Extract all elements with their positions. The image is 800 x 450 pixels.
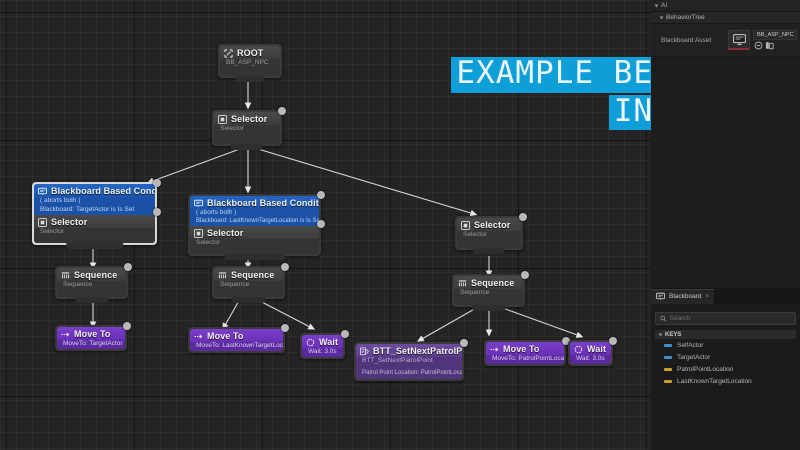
node-footer (75, 297, 109, 303)
blackboard-asset-controls: BB_ASP_NPC (753, 30, 797, 50)
node-title: Move To (207, 331, 244, 341)
node-subtitle: Sequence (214, 281, 283, 290)
blackboard-panel: Blackboard × KEYS SelfActor (651, 288, 800, 450)
decorator-aborts: ( aborts both ) (34, 197, 155, 206)
decorator-title: Blackboard Based Condition (51, 186, 155, 196)
blackboard-asset-icon (733, 34, 746, 45)
keys-header-label: KEYS (665, 332, 681, 338)
key-name: TargetActor (677, 354, 710, 361)
node-root-header: ROOT (220, 46, 280, 59)
node-decorator-target-actor[interactable]: Blackboard Based Condition ( aborts both… (32, 182, 157, 245)
node-footer (231, 144, 263, 150)
blackboard-icon (38, 187, 47, 196)
node-moveto-patrolpoint[interactable]: Move To MoveTo: PatrolPointLocation (484, 340, 566, 366)
node-title: Sequence (74, 270, 117, 280)
output-pin[interactable] (281, 263, 289, 271)
selector-icon (218, 115, 227, 124)
node-selector-mid[interactable]: Selector Selector (190, 226, 319, 254)
search-icon (660, 315, 667, 322)
use-selected-icon[interactable] (754, 41, 763, 50)
node-btt-setnextpatrolpoint[interactable]: BTT_SetNextPatrolPoint BTT_SetNextPatrol… (354, 342, 464, 381)
node-selector-top[interactable]: Selector Selector (212, 110, 282, 146)
blackboard-asset-thumbnail[interactable] (728, 30, 750, 50)
wait-icon (306, 338, 315, 347)
node-footer (232, 297, 266, 303)
node-footer (224, 254, 285, 260)
blackboard-icon (194, 199, 203, 208)
right-panel: AI BehaviorTree Blackboard Asset BB_ASP_… (651, 0, 800, 450)
node-header: Selector (190, 226, 319, 239)
node-sequence-right[interactable]: Sequence Sequence (452, 274, 525, 307)
output-pin[interactable] (281, 324, 289, 332)
chevron-down-icon (659, 333, 663, 336)
chevron-down-icon (660, 16, 664, 19)
output-pin[interactable] (521, 271, 529, 279)
node-wait-right[interactable]: Wait Wait: 3.0s (568, 340, 613, 366)
decorator-header: Blackboard Based Condition (190, 196, 319, 209)
move-to-icon (194, 332, 203, 341)
node-header: Move To (190, 329, 283, 342)
node-footer (472, 305, 506, 311)
search-input[interactable] (670, 315, 792, 322)
list-item[interactable]: TargetActor (655, 351, 796, 363)
node-title: Selector (474, 220, 510, 230)
node-title: Wait (319, 337, 338, 347)
output-pin[interactable] (460, 339, 468, 347)
node-title: Sequence (471, 278, 514, 288)
key-type-swatch (664, 344, 672, 347)
node-footer (235, 76, 264, 82)
node-header: Sequence (57, 268, 126, 281)
sequence-icon (61, 271, 70, 280)
sequence-icon (218, 271, 227, 280)
node-moveto-targetactor[interactable]: Move To MoveTo: TargetActor (55, 325, 127, 351)
node-footer (66, 243, 124, 249)
behavior-tree-graph-canvas[interactable]: ROOT BB_ASP_NPC Selector Selector (0, 0, 651, 450)
output-pin[interactable] (341, 330, 349, 338)
node-header: Selector (457, 218, 521, 231)
decorator-detail: Blackboard: LastKnownTargetLocation is I… (190, 218, 319, 226)
node-title: Selector (51, 217, 87, 227)
node-wait-mid[interactable]: Wait Wait: 3.0s (300, 333, 345, 359)
details-section-ai[interactable]: AI (651, 0, 800, 12)
decorator-blackboard-based-condition[interactable]: Blackboard Based Condition ( aborts both… (190, 196, 319, 226)
node-title: BTT_SetNextPatrolPoint (373, 346, 462, 356)
output-pin[interactable] (317, 191, 325, 199)
node-sequence-left[interactable]: Sequence Sequence (55, 266, 128, 299)
output-pin[interactable] (123, 322, 131, 330)
selector-icon (461, 221, 470, 230)
key-name: SelfActor (677, 342, 703, 349)
sequence-icon (458, 279, 467, 288)
node-footer (473, 248, 504, 254)
node-detail: Patrol Point Location: PatrolPointLocati… (356, 370, 462, 379)
output-pin[interactable] (519, 213, 527, 221)
node-subtitle: MoveTo: PatrolPointLocation (486, 355, 564, 364)
node-subtitle: Selector (457, 231, 521, 240)
node-title: Wait (587, 344, 606, 354)
node-subtitle: Selector (34, 228, 155, 237)
wait-icon (574, 345, 583, 354)
node-header: Sequence (214, 268, 283, 281)
node-subtitle: BTT_SetNextPatrolPoint (356, 357, 462, 366)
key-name: PatrolPointLocation (677, 366, 733, 373)
selector-icon (38, 218, 47, 227)
node-subtitle: MoveTo: LastKnownTargetLocation (190, 342, 283, 351)
node-title: Selector (207, 228, 243, 238)
blackboard-search[interactable] (655, 312, 796, 325)
key-name: LastKnownTargetLocation (677, 378, 752, 385)
node-selector-right[interactable]: Selector Selector (455, 216, 523, 250)
decorator-pin[interactable] (317, 220, 325, 228)
node-title: Move To (503, 344, 540, 354)
output-pin[interactable] (124, 263, 132, 271)
node-subtitle: BB_ASP_NPC (220, 59, 280, 68)
node-subtitle: Wait: 3.0s (302, 348, 343, 357)
blackboard-icon (656, 292, 665, 301)
decorator-pin[interactable] (153, 208, 161, 216)
selector-icon (194, 229, 203, 238)
node-moveto-lastknown[interactable]: Move To MoveTo: LastKnownTargetLocation (188, 327, 285, 353)
node-header: Wait (570, 342, 611, 355)
node-selector-top-header: Selector (214, 112, 280, 125)
details-section-behaviortree[interactable]: BehaviorTree (651, 12, 800, 24)
blackboard-asset-row: Blackboard Asset BB_ASP_NPC (651, 24, 800, 57)
decorator-detail: Blackboard: TargetActor is Is Set (34, 206, 155, 215)
node-subtitle: Selector (190, 239, 319, 248)
node-header: BTT_SetNextPatrolPoint (356, 344, 462, 357)
node-header: Sequence (454, 276, 523, 289)
tab-label: Blackboard (669, 293, 702, 300)
node-title: Selector (231, 114, 267, 124)
decorator-title: Blackboard Based Condition (207, 198, 319, 208)
details-section-label: AI (661, 2, 667, 9)
chevron-down-icon (655, 4, 659, 7)
node-root[interactable]: ROOT BB_ASP_NPC (218, 44, 282, 78)
close-icon[interactable]: × (706, 294, 710, 300)
details-section-label: BehaviorTree (666, 14, 705, 21)
list-item[interactable]: PatrolPointLocation (655, 363, 796, 375)
node-sequence-mid[interactable]: Sequence Sequence (212, 266, 285, 299)
output-pin[interactable] (609, 337, 617, 345)
blackboard-asset-value[interactable]: BB_ASP_NPC (753, 30, 797, 40)
node-title: Move To (74, 329, 111, 339)
blackboard-asset-label: Blackboard Asset (661, 37, 725, 44)
decorator-blackboard-based-condition[interactable]: Blackboard Based Condition ( aborts both… (34, 184, 155, 215)
move-to-icon (61, 330, 70, 339)
node-subtitle: Selector (214, 125, 280, 134)
node-subtitle: Wait: 3.0s (570, 355, 611, 364)
blackboard-keys-header[interactable]: KEYS (655, 330, 796, 339)
node-header: Move To (57, 327, 125, 340)
key-type-swatch (664, 380, 672, 383)
node-title: Sequence (231, 270, 274, 280)
move-to-icon (490, 345, 499, 354)
key-type-swatch (664, 368, 672, 371)
node-header: Move To (486, 342, 564, 355)
output-pin[interactable] (278, 107, 286, 115)
decorator-header: Blackboard Based Condition (34, 184, 155, 197)
decorator-aborts: ( aborts both ) (190, 209, 319, 218)
blackboard-body: KEYS SelfActor TargetActor PatrolPointLo… (651, 304, 800, 387)
output-pin[interactable] (153, 179, 161, 187)
node-subtitle: Sequence (454, 289, 523, 298)
browse-icon[interactable] (765, 41, 774, 50)
node-subtitle: MoveTo: TargetActor (57, 340, 125, 349)
key-type-swatch (664, 356, 672, 359)
node-selector-left[interactable]: Selector Selector (34, 215, 155, 243)
node-header: Wait (302, 335, 343, 348)
blackboard-tab-row: Blackboard × (651, 289, 800, 304)
list-item[interactable]: SelfActor (655, 339, 796, 351)
task-icon (360, 347, 369, 356)
node-subtitle: Sequence (57, 281, 126, 290)
node-decorator-lastknown[interactable]: Blackboard Based Condition ( aborts both… (188, 194, 321, 256)
tab-blackboard[interactable]: Blackboard × (651, 289, 715, 304)
node-header: Selector (34, 215, 155, 228)
node-title: ROOT (237, 48, 263, 58)
root-icon (224, 49, 233, 58)
list-item[interactable]: LastKnownTargetLocation (655, 375, 796, 387)
